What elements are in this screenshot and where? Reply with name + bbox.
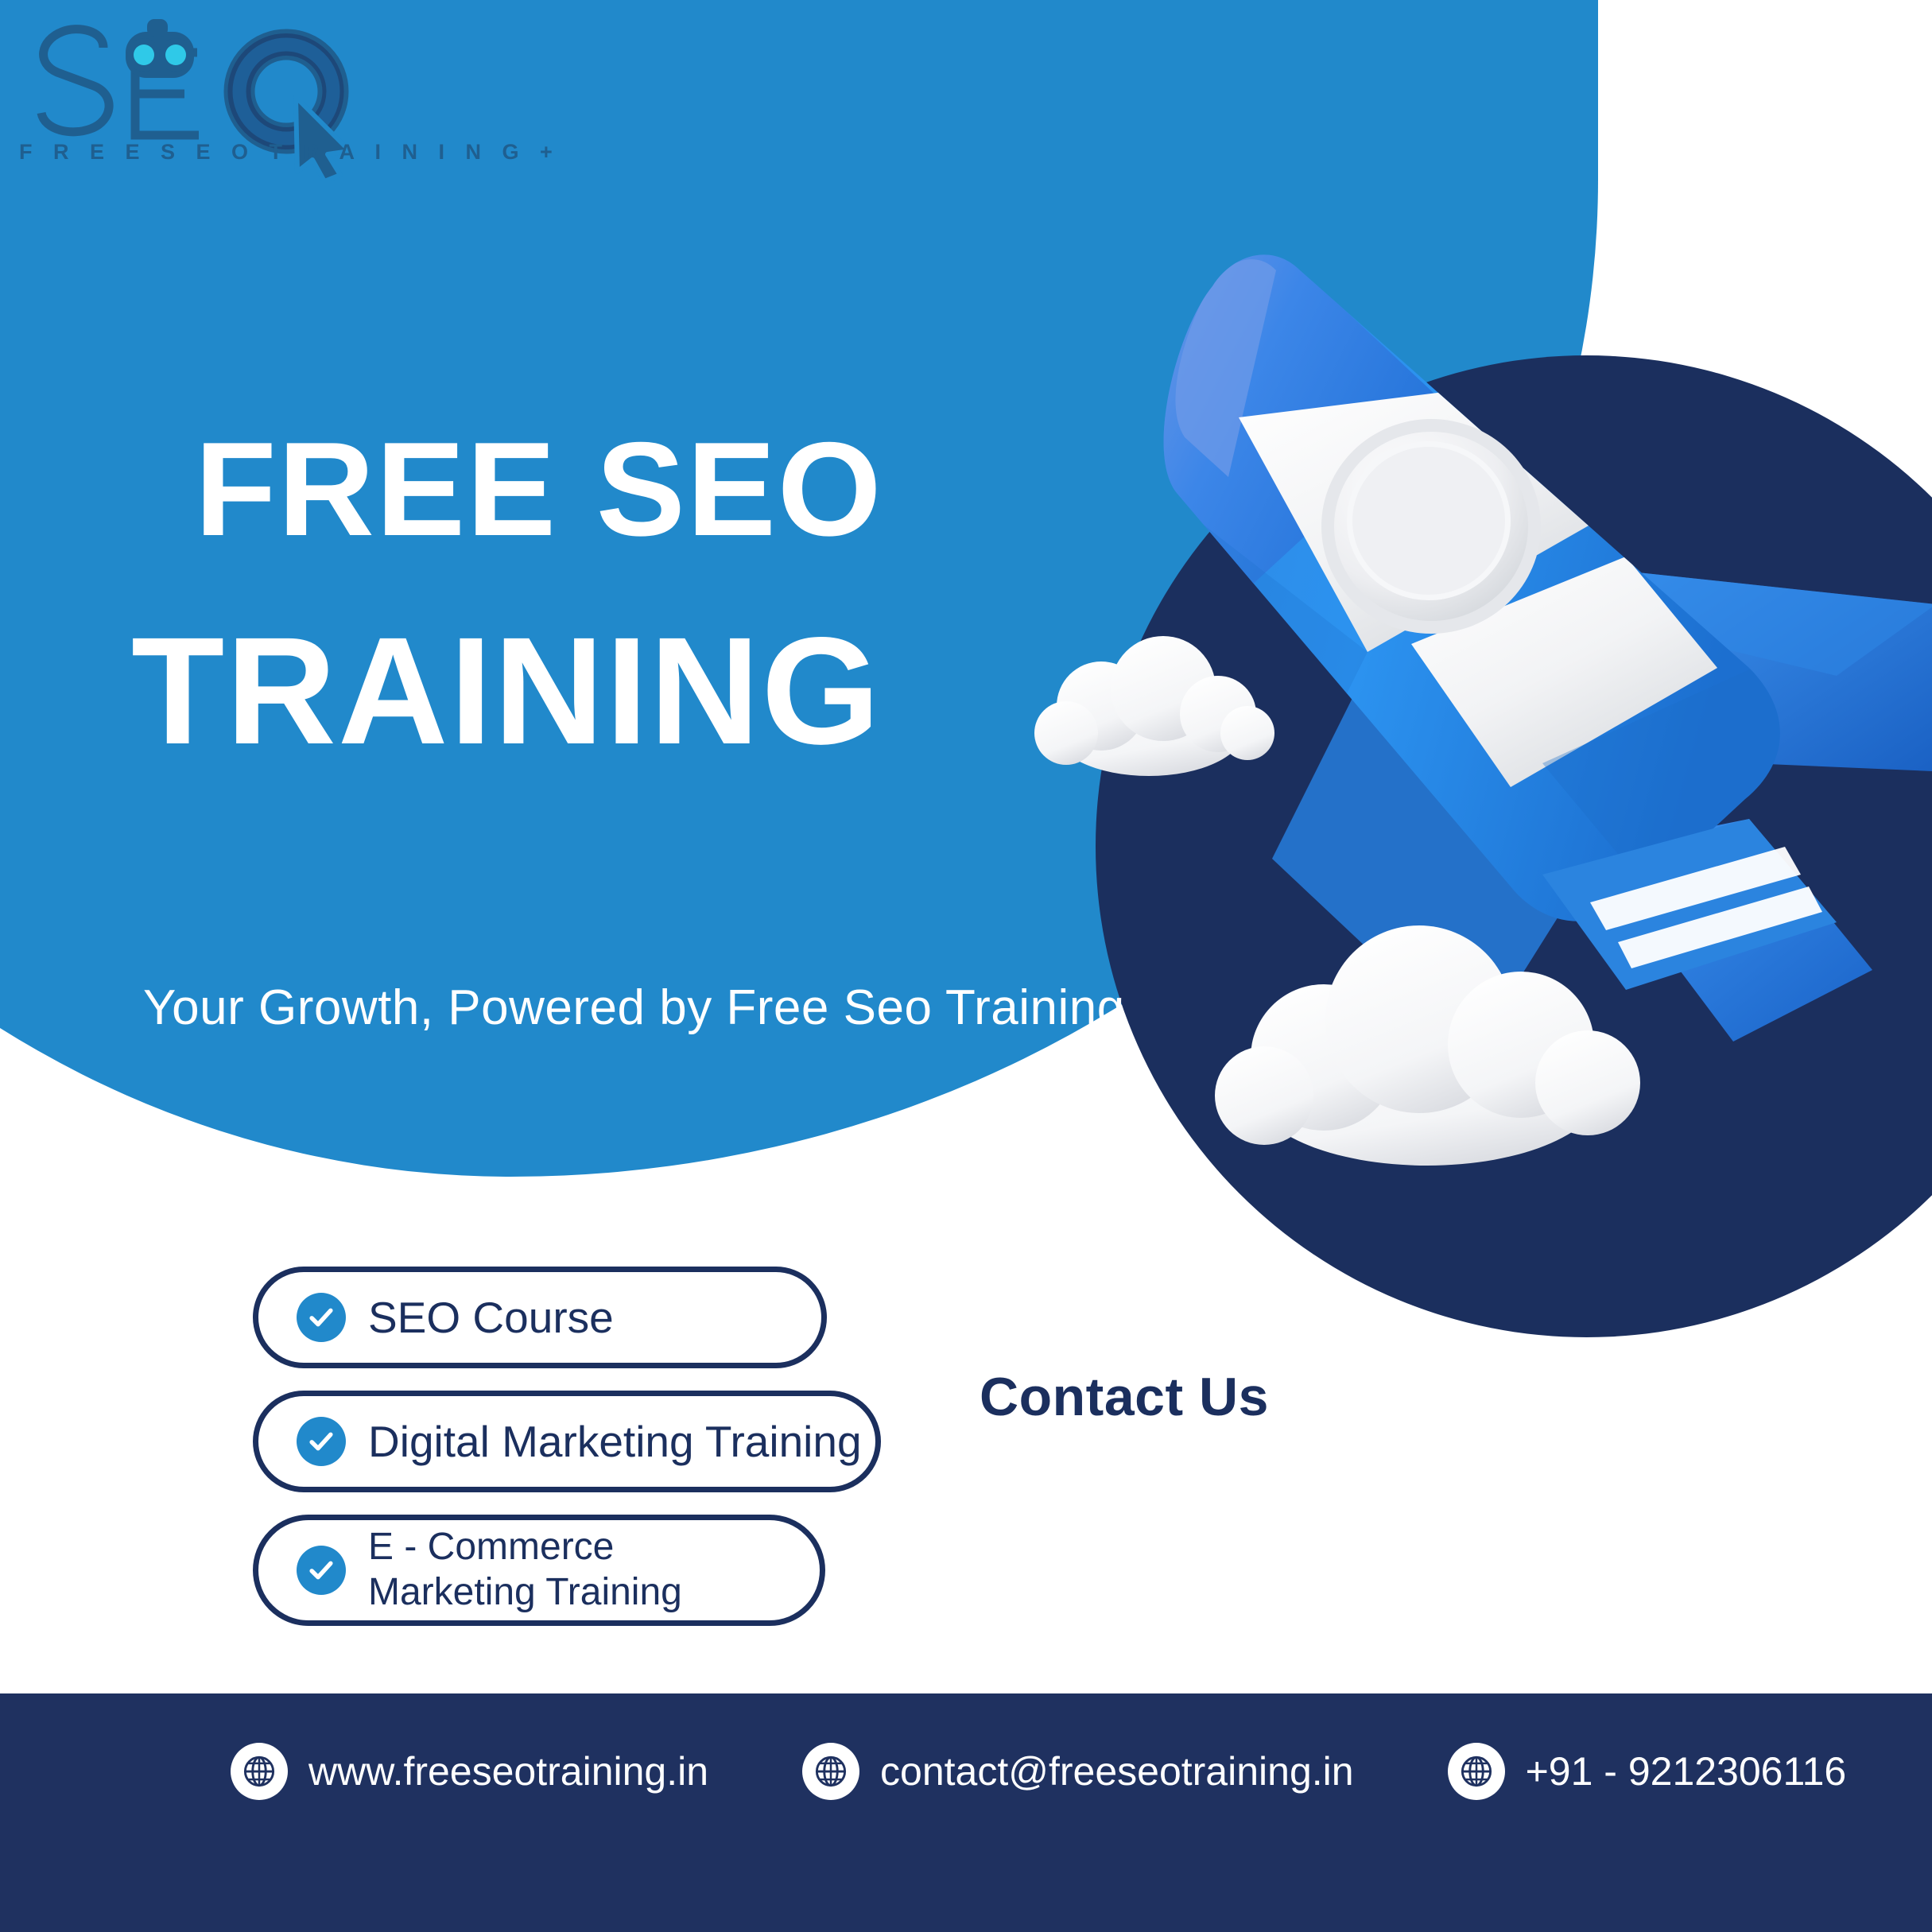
footer-website-text: www.freeseotraining.in	[308, 1748, 708, 1794]
contact-us-heading: Contact Us	[980, 1366, 1269, 1428]
footer-phone-text: +91 - 9212306116	[1526, 1748, 1847, 1794]
feature-pill-label: E - Commerce Marketing Training	[368, 1525, 788, 1615]
rocket-illustration	[1034, 159, 1932, 1193]
check-circle-icon	[297, 1417, 346, 1466]
feature-pill-label: Digital Marketing Training	[368, 1418, 862, 1466]
hero-tagline: Your Growth, Powered by Free Seo Trainin…	[143, 980, 1125, 1036]
check-circle-icon	[297, 1293, 346, 1342]
footer-item-website[interactable]: www.freeseotraining.in	[231, 1743, 708, 1800]
footer-contact-bar: www.freeseotraining.in contact@freeseotr…	[0, 1693, 1932, 1932]
footer-email-text: contact@freeseotraining.in	[880, 1748, 1354, 1794]
footer-item-phone[interactable]: +91 - 9212306116	[1448, 1743, 1847, 1800]
feature-pill-ecommerce-marketing-training[interactable]: E - Commerce Marketing Training	[253, 1515, 825, 1626]
feature-pill-digital-marketing-training[interactable]: Digital Marketing Training	[253, 1391, 881, 1492]
feature-pill-label: SEO Course	[368, 1294, 614, 1342]
poster-canvas: F R E E S E O T R A I N I N G + FREE SEO…	[0, 0, 1932, 1932]
page-title: FREE SEO TRAINING	[195, 421, 883, 769]
feature-list: SEO Course Digital Marketing Training E …	[253, 1267, 881, 1648]
feature-pill-seo-course[interactable]: SEO Course	[253, 1267, 827, 1368]
headline-line-2: TRAINING	[131, 613, 883, 769]
globe-icon	[231, 1743, 288, 1800]
globe-icon	[802, 1743, 859, 1800]
footer-item-email[interactable]: contact@freeseotraining.in	[802, 1743, 1354, 1800]
globe-icon	[1448, 1743, 1505, 1800]
logo-tagline: F R E E S E O T R A I N I N G +	[19, 140, 560, 165]
check-circle-icon	[297, 1546, 346, 1595]
headline-line-1: FREE SEO	[195, 421, 883, 557]
